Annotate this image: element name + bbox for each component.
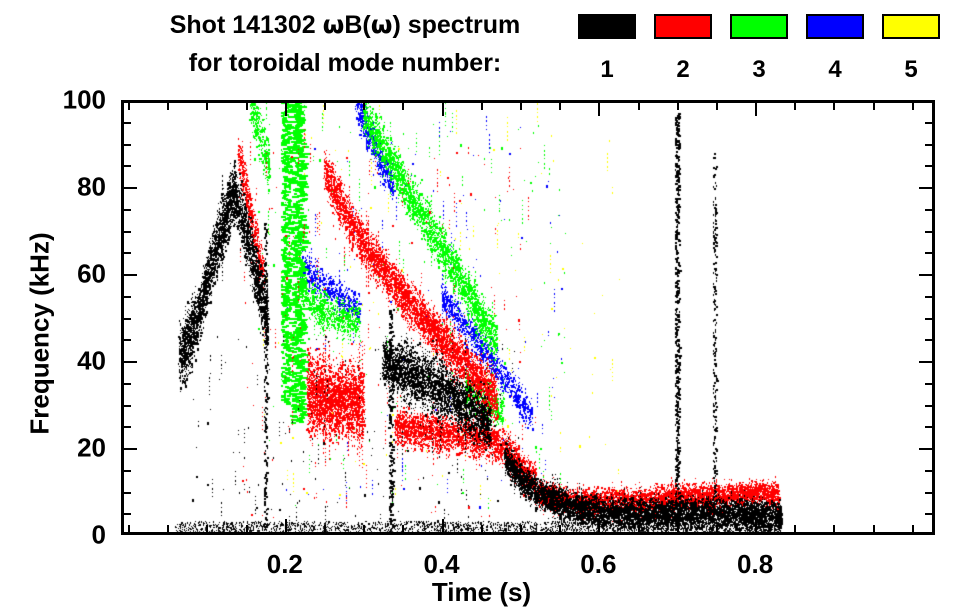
- x-tick-1: [912, 525, 914, 535]
- x-tick-top-0.4: [442, 100, 444, 116]
- y-tick-label-100: 100: [26, 85, 106, 116]
- legend-swatch-3: [730, 14, 788, 39]
- y-tick-right-25: [925, 426, 935, 428]
- x-tick-top-0.45: [481, 100, 483, 110]
- y-tick-65: [121, 252, 131, 254]
- y-tick-right-45: [925, 339, 935, 341]
- legend-swatch-1: [578, 14, 636, 39]
- x-tick-top-0.75: [716, 100, 718, 110]
- x-tick-0.95: [873, 525, 875, 535]
- x-tick-label-0.6: 0.6: [580, 549, 616, 580]
- legend-swatch-5: [882, 14, 940, 39]
- y-tick-10: [121, 492, 131, 494]
- x-tick-top-0.1: [206, 100, 208, 110]
- y-tick-20: [121, 448, 137, 450]
- y-tick-right-85: [925, 165, 935, 167]
- y-tick-right-15: [925, 470, 935, 472]
- y-tick-5: [121, 513, 131, 515]
- x-tick-top-0.55: [559, 100, 561, 110]
- x-tick-0.65: [638, 525, 640, 535]
- y-tick-right-30: [925, 405, 935, 407]
- legend-swatch-row: [578, 14, 940, 39]
- omega-symbol-1: ω: [323, 10, 345, 39]
- y-tick-right-60: [919, 274, 935, 276]
- y-tick-right-100: [919, 100, 935, 102]
- y-tick-right-75: [925, 209, 935, 211]
- x-tick-label-0.8: 0.8: [737, 549, 773, 580]
- y-tick-15: [121, 470, 131, 472]
- y-tick-right-40: [919, 361, 935, 363]
- x-tick-0.85: [794, 525, 796, 535]
- x-tick-0.05: [167, 525, 169, 535]
- title-line-2: for toroidal mode number:: [110, 44, 580, 82]
- x-tick-0.5: [520, 525, 522, 535]
- x-tick-top-0.9: [833, 100, 835, 110]
- y-tick-70: [121, 231, 131, 233]
- y-axis-title: Frequency (kHz): [25, 134, 56, 534]
- x-tick-label-0.2: 0.2: [267, 549, 303, 580]
- y-tick-right-5: [925, 513, 935, 515]
- x-tick-top-0.5: [520, 100, 522, 110]
- x-tick-top-0.95: [873, 100, 875, 110]
- legend-swatch-2: [654, 14, 712, 39]
- x-tick-label-0.4: 0.4: [424, 549, 460, 580]
- title-b-text: B(: [344, 11, 370, 39]
- legend-label-1: 1: [578, 56, 636, 84]
- x-tick-0.9: [833, 525, 835, 535]
- y-tick-right-90: [925, 144, 935, 146]
- y-tick-right-50: [925, 318, 935, 320]
- y-tick-right-0: [919, 533, 935, 535]
- spectrogram-figure: Shot 141302 ωB(ω) spectrum for toroidal …: [0, 0, 963, 615]
- x-tick-0.15: [246, 525, 248, 535]
- x-tick-top-0.65: [638, 100, 640, 110]
- x-tick-0.7: [677, 525, 679, 535]
- legend-label-3: 3: [730, 56, 788, 84]
- x-tick-0.75: [716, 525, 718, 535]
- x-tick-top-0.6: [598, 100, 600, 116]
- y-tick-right-95: [925, 122, 935, 124]
- y-tick-40: [121, 361, 137, 363]
- title-line-1: Shot 141302 ωB(ω) spectrum: [110, 6, 580, 44]
- y-tick-80: [121, 187, 137, 189]
- y-tick-right-70: [925, 231, 935, 233]
- y-tick-right-10: [925, 492, 935, 494]
- figure-title: Shot 141302 ωB(ω) spectrum for toroidal …: [110, 6, 580, 82]
- x-tick-0.6: [598, 519, 600, 535]
- legend-label-5: 5: [882, 56, 940, 84]
- y-tick-95: [121, 122, 131, 124]
- legend-swatch-4: [806, 14, 864, 39]
- y-tick-60: [121, 274, 137, 276]
- x-tick-top-0.35: [402, 100, 404, 110]
- y-tick-30: [121, 405, 131, 407]
- legend-label-2: 2: [654, 56, 712, 84]
- x-tick-0.8: [755, 519, 757, 535]
- x-tick-0.3: [363, 525, 365, 535]
- omega-symbol-2: ω: [371, 10, 393, 39]
- y-tick-50: [121, 318, 131, 320]
- y-tick-90: [121, 144, 131, 146]
- y-tick-100: [121, 100, 137, 102]
- y-tick-right-20: [919, 448, 935, 450]
- x-tick-top-1: [912, 100, 914, 110]
- title-spectrum-text: ) spectrum: [392, 11, 520, 39]
- x-tick-0.45: [481, 525, 483, 535]
- legend-label-row: 12345: [578, 56, 940, 84]
- legend-label-4: 4: [806, 56, 864, 84]
- x-tick-top-0.85: [794, 100, 796, 110]
- legend: 12345: [578, 14, 958, 90]
- y-tick-35: [121, 383, 131, 385]
- y-tick-0: [121, 533, 137, 535]
- x-tick-top-0.7: [677, 100, 679, 110]
- y-tick-right-65: [925, 252, 935, 254]
- x-tick-0.2: [285, 519, 287, 535]
- y-tick-55: [121, 296, 131, 298]
- y-tick-85: [121, 165, 131, 167]
- x-tick-0.55: [559, 525, 561, 535]
- x-tick-top-0.25: [324, 100, 326, 110]
- y-tick-25: [121, 426, 131, 428]
- y-tick-right-80: [919, 187, 935, 189]
- x-tick-0.1: [206, 525, 208, 535]
- x-tick-top-0.2: [285, 100, 287, 116]
- axes-frame: [121, 100, 935, 535]
- x-tick-top-0.05: [167, 100, 169, 110]
- x-tick-top-0.15: [246, 100, 248, 110]
- x-tick-0.35: [402, 525, 404, 535]
- y-tick-right-35: [925, 383, 935, 385]
- y-tick-45: [121, 339, 131, 341]
- x-tick-0.25: [324, 525, 326, 535]
- y-tick-right-55: [925, 296, 935, 298]
- x-axis-title: Time (s): [0, 577, 963, 608]
- y-tick-75: [121, 209, 131, 211]
- plot-area: [121, 100, 935, 535]
- x-tick-top-0.3: [363, 100, 365, 110]
- title-shot-text: Shot 141302: [170, 11, 323, 39]
- x-tick-top-0.8: [755, 100, 757, 116]
- x-tick-0.4: [442, 519, 444, 535]
